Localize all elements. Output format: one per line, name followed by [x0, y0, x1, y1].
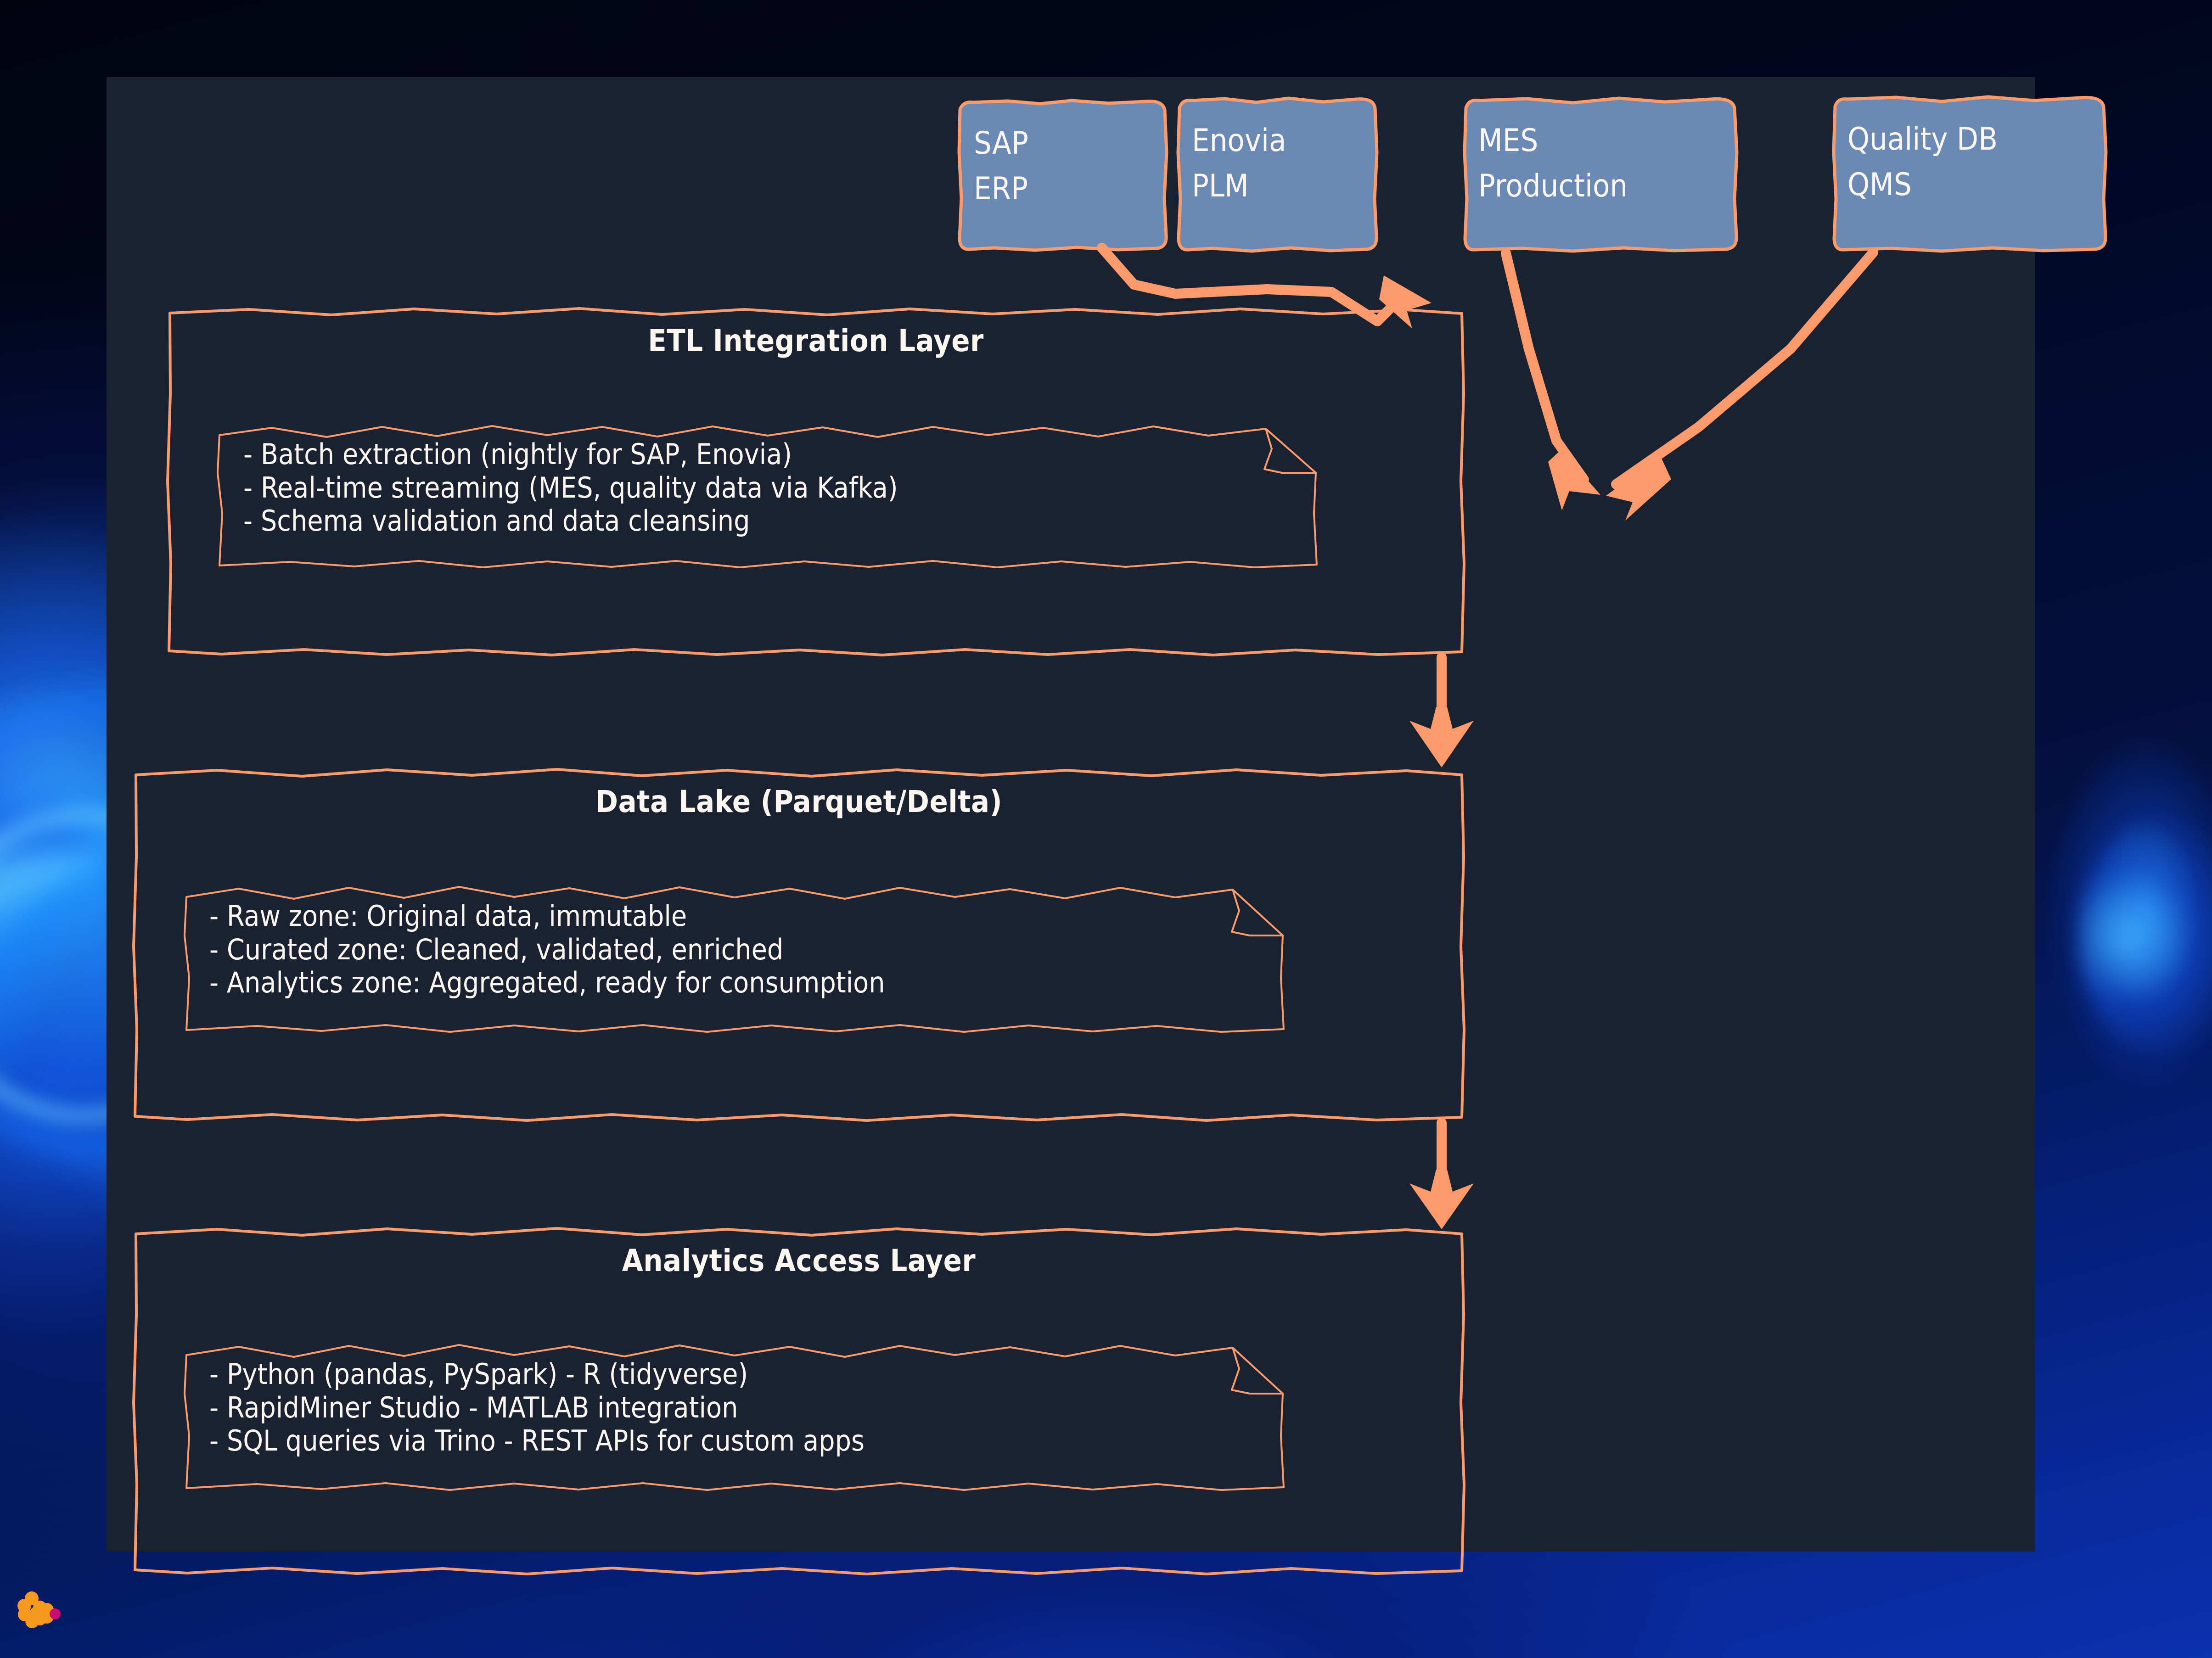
list-item: - Schema validation and data cleansing — [243, 504, 898, 538]
data-lake-note-box: - Raw zone: Original data, immutable - C… — [184, 882, 1286, 1033]
list-item: - SQL queries via Trino - REST APIs for … — [209, 1424, 865, 1458]
list-item: - Curated zone: Cleaned, validated, enri… — [209, 933, 885, 967]
analytics-note-list: - Python (pandas, PySpark) - R (tidyvers… — [209, 1358, 865, 1458]
source-box-quality-db-qms[interactable]: Quality DB QMS — [1832, 94, 2107, 252]
source-line: QMS — [1847, 162, 1998, 208]
etl-note-list: - Batch extraction (nightly for SAP, Eno… — [243, 438, 898, 538]
list-item: - Raw zone: Original data, immutable — [209, 900, 885, 933]
mes-production-label: MES Production — [1478, 118, 1628, 209]
analytics-layer-title: Analytics Access Layer — [132, 1243, 1465, 1278]
layer-box-etl-integration-layer[interactable]: ETL Integration Layer - Batch extraction… — [166, 307, 1465, 657]
background-right-glow-decoration — [2079, 817, 2212, 1056]
data-lake-title: Data Lake (Parquet/Delta) — [132, 784, 1465, 819]
source-line: ERP — [974, 167, 1028, 212]
layer-box-data-lake[interactable]: Data Lake (Parquet/Delta) - Raw zone: Or… — [132, 767, 1465, 1122]
list-item: - Real-time streaming (MES, quality data… — [243, 471, 898, 505]
enovia-plm-label: Enovia PLM — [1192, 118, 1286, 209]
list-item: - Analytics zone: Aggregated, ready for … — [209, 966, 885, 1000]
logo-accent-dot — [50, 1608, 61, 1619]
analytics-note-box: - Python (pandas, PySpark) - R (tidyvers… — [184, 1340, 1286, 1491]
source-line: PLM — [1192, 164, 1286, 209]
source-box-sap-erp[interactable]: SAP ERP — [957, 97, 1168, 251]
source-line: Production — [1478, 164, 1628, 209]
dot-cluster-logo — [17, 1585, 105, 1636]
etl-note-box: - Batch extraction (nightly for SAP, Eno… — [217, 421, 1319, 568]
source-box-mes-production[interactable]: MES Production — [1463, 95, 1738, 252]
sap-erp-label: SAP ERP — [974, 121, 1028, 212]
list-item: - Python (pandas, PySpark) - R (tidyvers… — [209, 1358, 865, 1391]
list-item: - RapidMiner Studio - MATLAB integration — [209, 1391, 865, 1425]
layer-box-analytics-access-layer[interactable]: Analytics Access Layer - Python (pandas,… — [132, 1227, 1465, 1575]
source-line: SAP — [974, 121, 1028, 167]
quality-db-qms-label: Quality DB QMS — [1847, 117, 1998, 207]
source-line: Quality DB — [1847, 117, 1998, 162]
source-line: MES — [1478, 118, 1628, 164]
list-item: - Batch extraction (nightly for SAP, Eno… — [243, 438, 898, 471]
source-line: Enovia — [1192, 118, 1286, 164]
source-box-enovia-plm[interactable]: Enovia PLM — [1176, 95, 1378, 252]
data-lake-note-list: - Raw zone: Original data, immutable - C… — [209, 900, 885, 1000]
etl-layer-title: ETL Integration Layer — [166, 323, 1465, 358]
